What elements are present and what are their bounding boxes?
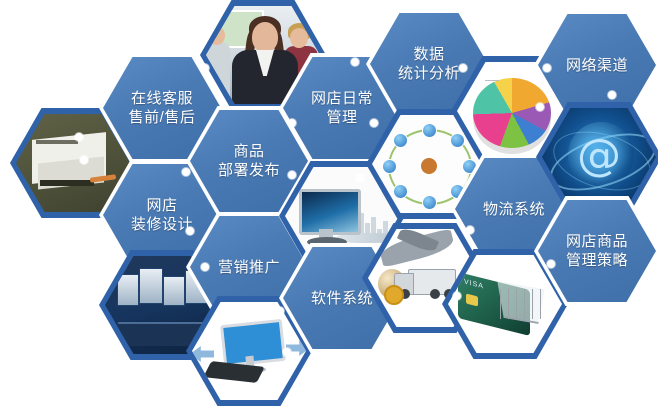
- connector-dot-icon: [201, 64, 209, 72]
- connector-dot-icon: [197, 11, 205, 19]
- connector-dot-icon: [356, 174, 364, 182]
- connector-dot-icon: [186, 227, 194, 235]
- connector-dot-icon: [276, 307, 284, 315]
- connector-dot-icon: [201, 263, 209, 271]
- connector-dot-icon: [283, 348, 291, 356]
- connector-dot-icon: [547, 260, 555, 268]
- hex-label: 网络渠道: [560, 56, 634, 75]
- connector-dot-icon: [459, 64, 467, 72]
- connector-dot-icon: [536, 103, 544, 111]
- connector-dot-icon: [608, 91, 616, 99]
- hex-label: 商品 部署发布: [212, 142, 286, 180]
- connector-dot-icon: [75, 133, 83, 141]
- connector-dot-icon: [288, 119, 296, 127]
- connector-dot-icon: [453, 292, 461, 300]
- hex-label: 网店日常 管理: [305, 89, 379, 127]
- connector-dot-icon: [182, 168, 190, 176]
- connector-dot-icon: [288, 171, 296, 179]
- hex-label: 网店商品 管理策略: [560, 232, 634, 270]
- connector-dot-icon: [543, 64, 551, 72]
- hex-cell-product-strategy[interactable]: 网店商品 管理策略: [538, 200, 656, 302]
- hex-cell-network-channel[interactable]: 网络渠道: [538, 14, 656, 116]
- connector-dot-icon: [370, 119, 378, 127]
- connector-dot-icon: [80, 156, 88, 164]
- connector-dot-icon: [466, 226, 474, 234]
- hex-cell-at-symbol-photo[interactable]: @: [540, 106, 658, 208]
- connector-dot-icon: [351, 58, 359, 66]
- infographic-canvas: 在线客服 售前/售后网店 装修设计商品 部署发布营销推广网店日常 管理软件系统数…: [0, 0, 658, 405]
- hex-label: 营销推广: [212, 258, 286, 277]
